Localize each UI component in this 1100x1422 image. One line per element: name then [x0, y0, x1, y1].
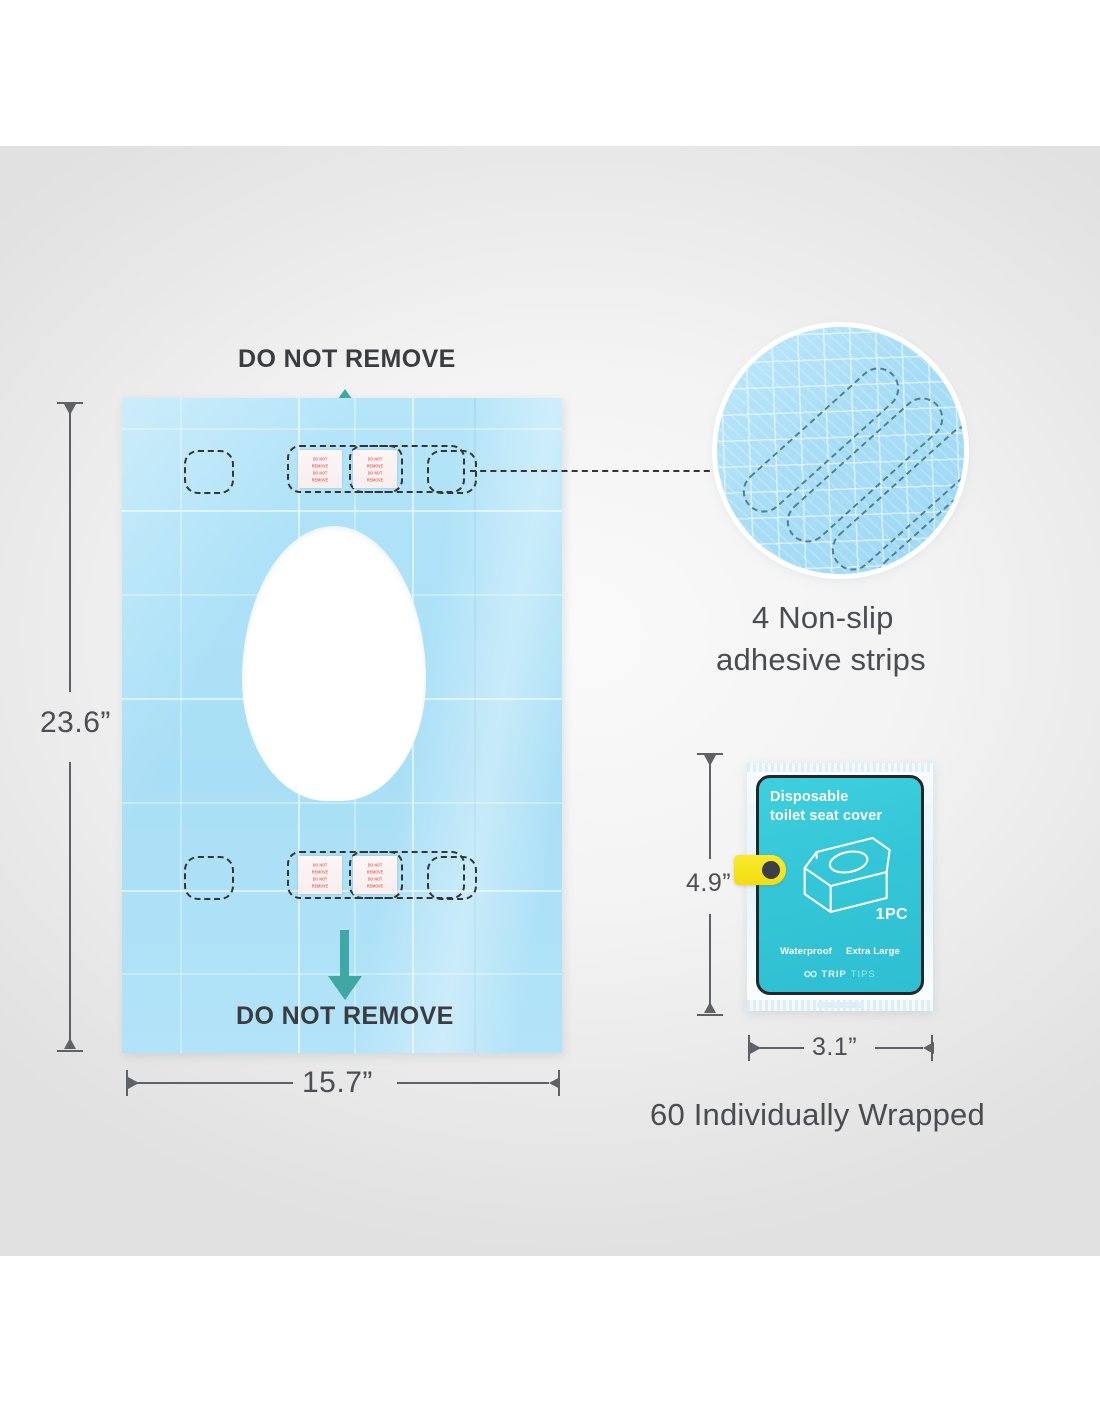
package-height-line-lower — [709, 914, 711, 1006]
seat-opening-cutout — [242, 526, 426, 801]
top-do-not-remove-label: DO NOT REMOVE — [238, 345, 456, 374]
adhesive-strip-detail-circle — [717, 327, 964, 574]
individually-wrapped-package: Disposable toilet seat cover 1PC Waterpr… — [747, 763, 933, 1011]
package-height-label: 4.9” — [686, 869, 731, 898]
package-width-label: 3.1” — [812, 1033, 857, 1062]
adhesive-strip-outline-top-right — [427, 450, 477, 494]
package-height-line-upper — [709, 755, 711, 859]
height-dim-line-upper — [69, 404, 71, 692]
package-width-line-right — [875, 1047, 923, 1049]
width-dim-line-right — [397, 1082, 549, 1084]
package-title-line-1: Disposable — [770, 788, 882, 807]
package-feature-extra-large: Extra Large — [846, 946, 900, 957]
warning-mini-label-bottom-left: DO NOT REMOVE DO NOT REMOVE — [298, 856, 342, 894]
package-height-arrow-bottom-icon — [704, 1002, 716, 1013]
height-dim-cap-bottom — [57, 1050, 83, 1052]
package-feature-waterproof: Waterproof — [780, 946, 832, 957]
tear-tab-dot-icon — [762, 861, 780, 879]
infographic-canvas: DO NOT REMOVE DO NOT REMOVE DO NOT REMOV… — [0, 0, 1100, 1422]
background-band-bottom — [0, 1256, 1100, 1422]
package-width-cap-right — [931, 1035, 933, 1061]
warning-mini-label-bottom-right: DO NOT REMOVE DO NOT REMOVE — [353, 856, 397, 894]
adhesive-strip-outline-top-left — [184, 450, 234, 494]
brand-name-bold: TRIP — [821, 968, 846, 979]
package-title: Disposable toilet seat cover — [770, 788, 882, 826]
width-dim-cap-right — [558, 1070, 560, 1096]
package-feature-list: Waterproof Extra Large — [759, 946, 921, 957]
package-tear-tab — [734, 855, 786, 885]
package-bottom-seal — [817, 1002, 863, 1008]
cover-height-label: 23.6” — [40, 706, 111, 740]
brand-name-light: TIPS — [851, 968, 876, 979]
width-dim-line-left — [134, 1082, 293, 1084]
warning-mini-label-top-right: DO NOT REMOVE DO NOT REMOVE — [353, 450, 397, 488]
package-quantity-badge: 1PC — [876, 906, 908, 924]
bottom-arrow-shaft-icon — [340, 930, 349, 976]
bottom-arrow-head-icon — [328, 976, 362, 1000]
detail-caption-line-1: 4 Non-slip — [752, 597, 894, 639]
height-dim-arrow-bottom-icon — [64, 1038, 76, 1049]
package-height-cap-bottom — [697, 1014, 723, 1016]
height-dim-line-lower — [69, 762, 71, 1042]
warning-mini-label-top-left: DO NOT REMOVE DO NOT REMOVE — [298, 450, 342, 488]
infinity-icon — [804, 970, 817, 978]
package-front-panel: Disposable toilet seat cover 1PC Waterpr… — [756, 775, 924, 995]
adhesive-strip-outline-bottom-left — [184, 856, 234, 900]
package-title-line-2: toilet seat cover — [770, 807, 882, 826]
package-width-line-left — [756, 1047, 804, 1049]
detail-leader-line — [470, 470, 720, 472]
bottom-do-not-remove-label: DO NOT REMOVE — [236, 1002, 454, 1031]
background-band-top — [0, 0, 1100, 146]
detail-caption-line-2: adhesive strips — [716, 639, 926, 681]
package-count-caption: 60 Individually Wrapped — [650, 1097, 985, 1133]
cover-width-label: 15.7” — [302, 1066, 373, 1100]
brand-logo: TRIP TIPS — [759, 968, 921, 979]
adhesive-strip-outline-bottom-right — [427, 856, 477, 900]
